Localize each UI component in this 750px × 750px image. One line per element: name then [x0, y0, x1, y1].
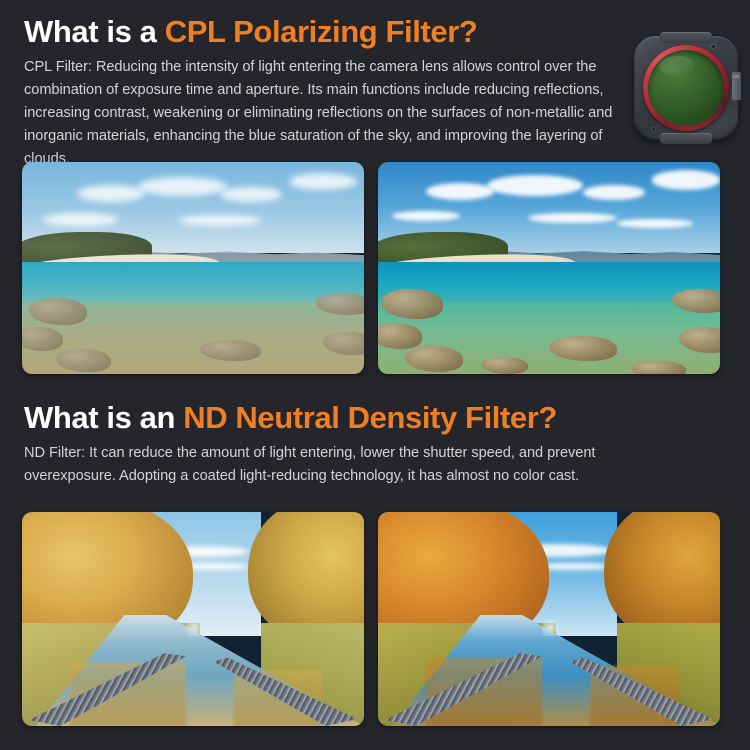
rock: [22, 327, 63, 350]
photo-autumn-canal-without-filter: [22, 512, 364, 726]
cpl-photo-comparison-row: [0, 162, 750, 374]
section-cpl-filter: What is a CPL Polarizing Filter? CPL Fil…: [0, 0, 750, 390]
cpl-green-coated-glass: [648, 50, 724, 126]
rock: [378, 323, 422, 348]
cloud: [138, 177, 227, 196]
housing-tab-bottom: [660, 133, 712, 144]
cloud: [652, 170, 720, 189]
housing-screw: [652, 128, 655, 131]
cpl-section-heading: What is a CPL Polarizing Filter?: [24, 16, 477, 47]
photo-autumn-canal-with-nd-filter: [378, 512, 720, 726]
nd-body-text: ND Filter: It can reduce the amount of l…: [24, 442, 616, 488]
autumn-trees-right: [248, 512, 364, 640]
autumn-trees-right: [604, 512, 720, 640]
rock: [56, 349, 111, 372]
photo-beach-without-filter: [22, 162, 364, 374]
cpl-filter-product-image: CPL: [634, 36, 738, 140]
nd-section-heading: What is an ND Neutral Density Filter?: [24, 402, 557, 433]
housing-screw: [712, 45, 715, 48]
beach-scene-polarized: [378, 162, 720, 374]
photo-beach-with-cpl-filter: [378, 162, 720, 374]
nd-photo-comparison-row: [0, 512, 750, 726]
cpl-rotating-ring: [643, 45, 729, 131]
rock: [631, 361, 686, 374]
cloud: [43, 213, 118, 226]
vanishing-point-glow: [186, 619, 203, 636]
vanishing-point-glow: [542, 619, 559, 636]
cloud: [583, 185, 645, 200]
cloud: [617, 219, 692, 227]
cpl-side-label: CPL: [732, 72, 741, 100]
cpl-heading-prefix: What is a: [24, 14, 165, 49]
nd-heading-prefix: What is an: [24, 400, 183, 435]
autumn-scene-plain: [22, 512, 364, 726]
nd-heading-accent: ND Neutral Density Filter?: [183, 400, 557, 435]
cloud: [289, 173, 357, 190]
cpl-heading-accent: CPL Polarizing Filter?: [165, 14, 478, 49]
autumn-scene-filtered: [378, 512, 720, 726]
section-nd-filter: What is an ND Neutral Density Filter? ND…: [0, 390, 750, 750]
cloud: [179, 215, 261, 226]
infographic-page: What is a CPL Polarizing Filter? CPL Fil…: [0, 0, 750, 750]
cloud: [487, 175, 583, 196]
housing-tab-top: [660, 32, 712, 43]
beach-scene-plain: [22, 162, 364, 374]
cpl-body-text: CPL Filter: Reducing the intensity of li…: [24, 56, 624, 171]
